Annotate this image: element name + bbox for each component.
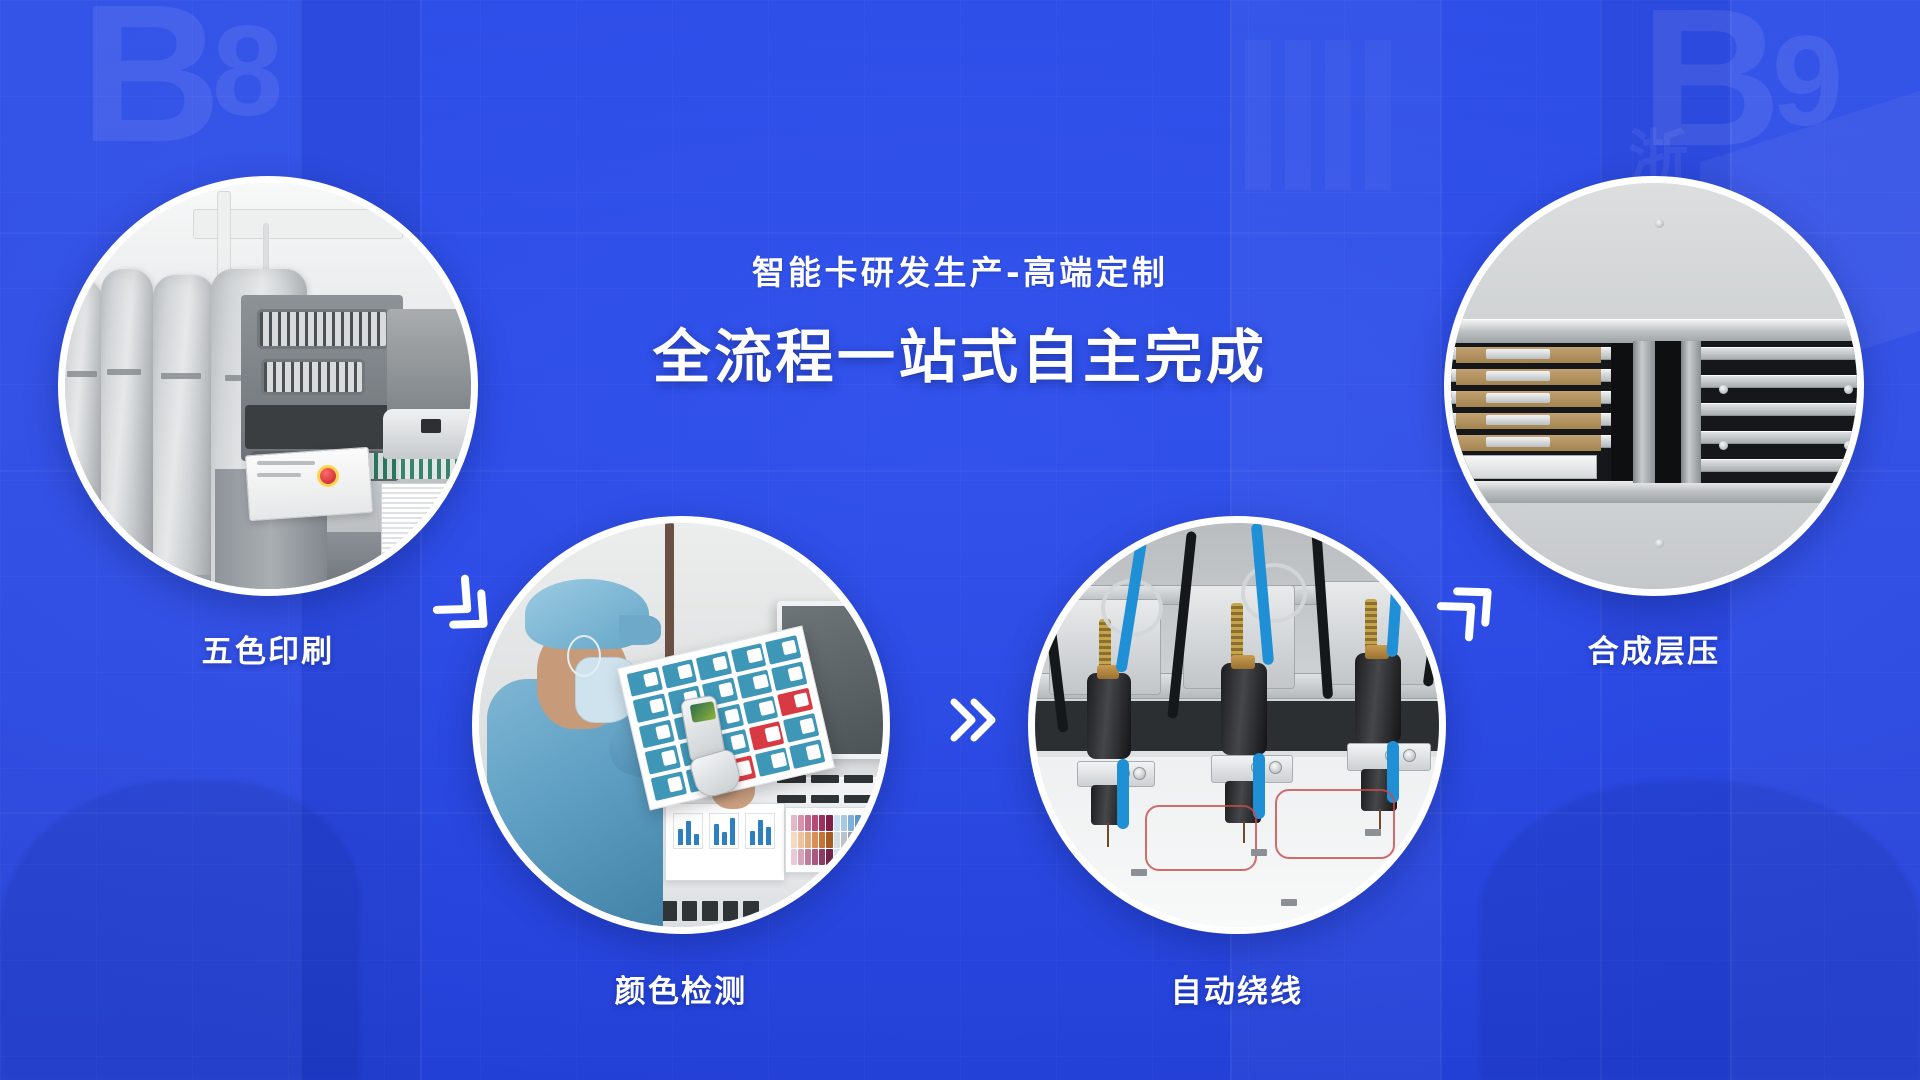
watermark-number-8: 8 <box>212 14 281 129</box>
page-title: 全流程一站式自主完成 <box>0 310 1920 394</box>
step-4-caption: 合成层压 <box>1444 626 1864 671</box>
watermark-number-9: 9 <box>1772 24 1841 139</box>
arrow-2 <box>938 688 1002 752</box>
foliage <box>0 780 360 1080</box>
step-2-image[interactable] <box>472 516 890 934</box>
watermark-letter-b8: B <box>80 0 218 162</box>
step-3-caption: 自动绕线 <box>1026 966 1448 1011</box>
headline-subtitle: 智能卡研发生产-高端定制 <box>0 246 1920 294</box>
arrow-1 <box>428 570 502 644</box>
headline-block: 智能卡研发生产-高端定制 全流程一站式自主完成 <box>0 246 1920 394</box>
step-1-caption: 五色印刷 <box>58 626 478 671</box>
process-step-3[interactable]: 自动绕线 <box>1028 516 1446 934</box>
step-3-image[interactable] <box>1028 516 1446 934</box>
process-step-2[interactable]: 颜色检测 <box>472 516 890 934</box>
foliage <box>1480 780 1920 1080</box>
step-2-caption: 颜色检测 <box>470 966 892 1011</box>
arrow-3 <box>1432 572 1506 646</box>
